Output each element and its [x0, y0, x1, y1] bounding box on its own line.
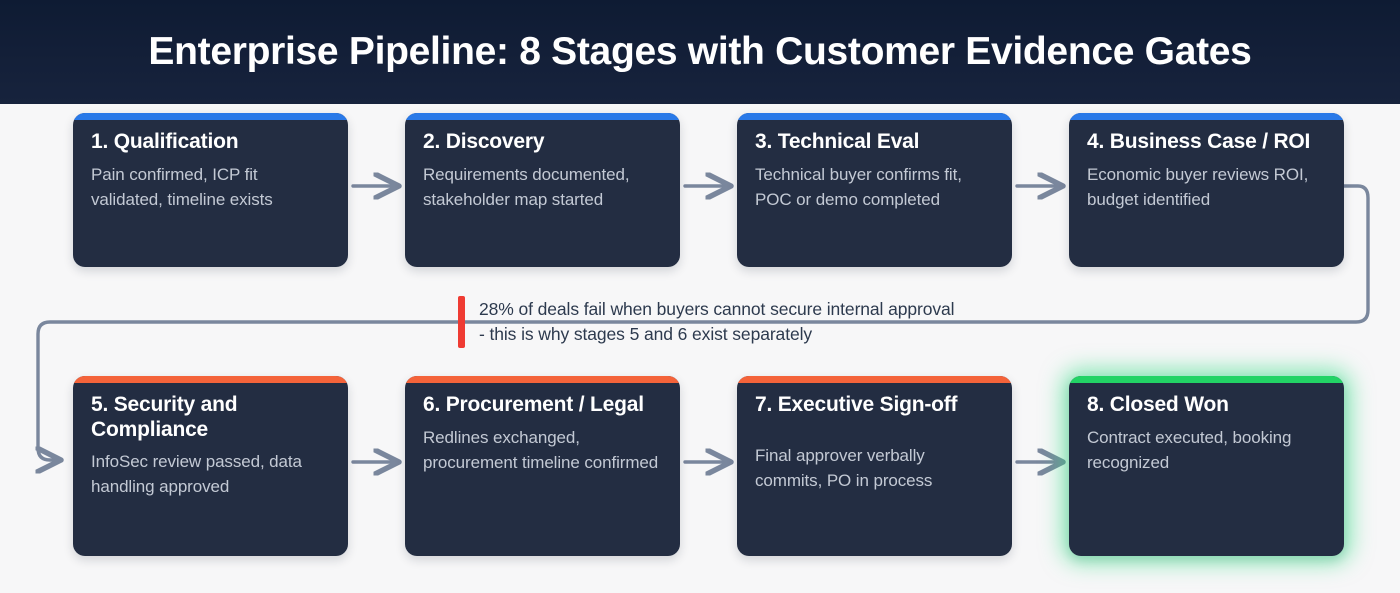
- stage-card-1[interactable]: 1. Qualification Pain confirmed, ICP fit…: [73, 113, 348, 267]
- stage-card-description: Technical buyer confirms fit, POC or dem…: [755, 163, 994, 213]
- stage-card-title: 8. Closed Won: [1087, 393, 1326, 418]
- stage-card-title: 1. Qualification: [91, 130, 330, 155]
- stage-card-title: 4. Business Case / ROI: [1087, 130, 1326, 155]
- callout-accent-bar: [458, 296, 465, 348]
- stage-card-6[interactable]: 6. Procurement / Legal Redlines exchange…: [405, 376, 680, 556]
- stage-card-title: 2. Discovery: [423, 130, 662, 155]
- stage-card-description: Pain confirmed, ICP fit validated, timel…: [91, 163, 330, 213]
- stage-card-description: InfoSec review passed, data handling app…: [91, 450, 330, 500]
- stage-card-4[interactable]: 4. Business Case / ROI Economic buyer re…: [1069, 113, 1344, 267]
- callout-note: 28% of deals fail when buyers cannot sec…: [458, 296, 958, 348]
- stage-card-title: 5. Security and Compliance: [91, 393, 330, 442]
- stage-card-title: 6. Procurement / Legal: [423, 393, 662, 418]
- stage-accent-bar-blue: [737, 113, 1012, 120]
- stage-accent-bar-blue: [1069, 113, 1344, 120]
- page-title: Enterprise Pipeline: 8 Stages with Custo…: [148, 30, 1251, 74]
- stage-card-8[interactable]: 8. Closed Won Contract executed, booking…: [1069, 376, 1344, 556]
- stage-card-description: Contract executed, booking recognized: [1087, 426, 1326, 476]
- header-banner: Enterprise Pipeline: 8 Stages with Custo…: [0, 0, 1400, 104]
- stage-card-3[interactable]: 3. Technical Eval Technical buyer confir…: [737, 113, 1012, 267]
- stage-accent-bar-orange: [73, 376, 348, 383]
- stage-card-description: Requirements documented, stakeholder map…: [423, 163, 662, 213]
- stage-accent-bar-orange: [737, 376, 1012, 383]
- stage-card-2[interactable]: 2. Discovery Requirements documented, st…: [405, 113, 680, 267]
- stage-card-description: Final approver verbally commits, PO in p…: [755, 444, 994, 494]
- stage-card-title: 3. Technical Eval: [755, 130, 994, 155]
- stage-card-description: Redlines exchanged, procurement timeline…: [423, 426, 662, 476]
- stage-accent-bar-orange: [405, 376, 680, 383]
- stage-accent-bar-green: [1069, 376, 1344, 383]
- stage-accent-bar-blue: [405, 113, 680, 120]
- callout-text: 28% of deals fail when buyers cannot sec…: [479, 296, 958, 348]
- stage-accent-bar-blue: [73, 113, 348, 120]
- stage-card-5[interactable]: 5. Security and Compliance InfoSec revie…: [73, 376, 348, 556]
- stage-card-description: Economic buyer reviews ROI, budget ident…: [1087, 163, 1326, 213]
- stage-card-7[interactable]: 7. Executive Sign-off Final approver ver…: [737, 376, 1012, 556]
- stage-card-title: 7. Executive Sign-off: [755, 393, 994, 418]
